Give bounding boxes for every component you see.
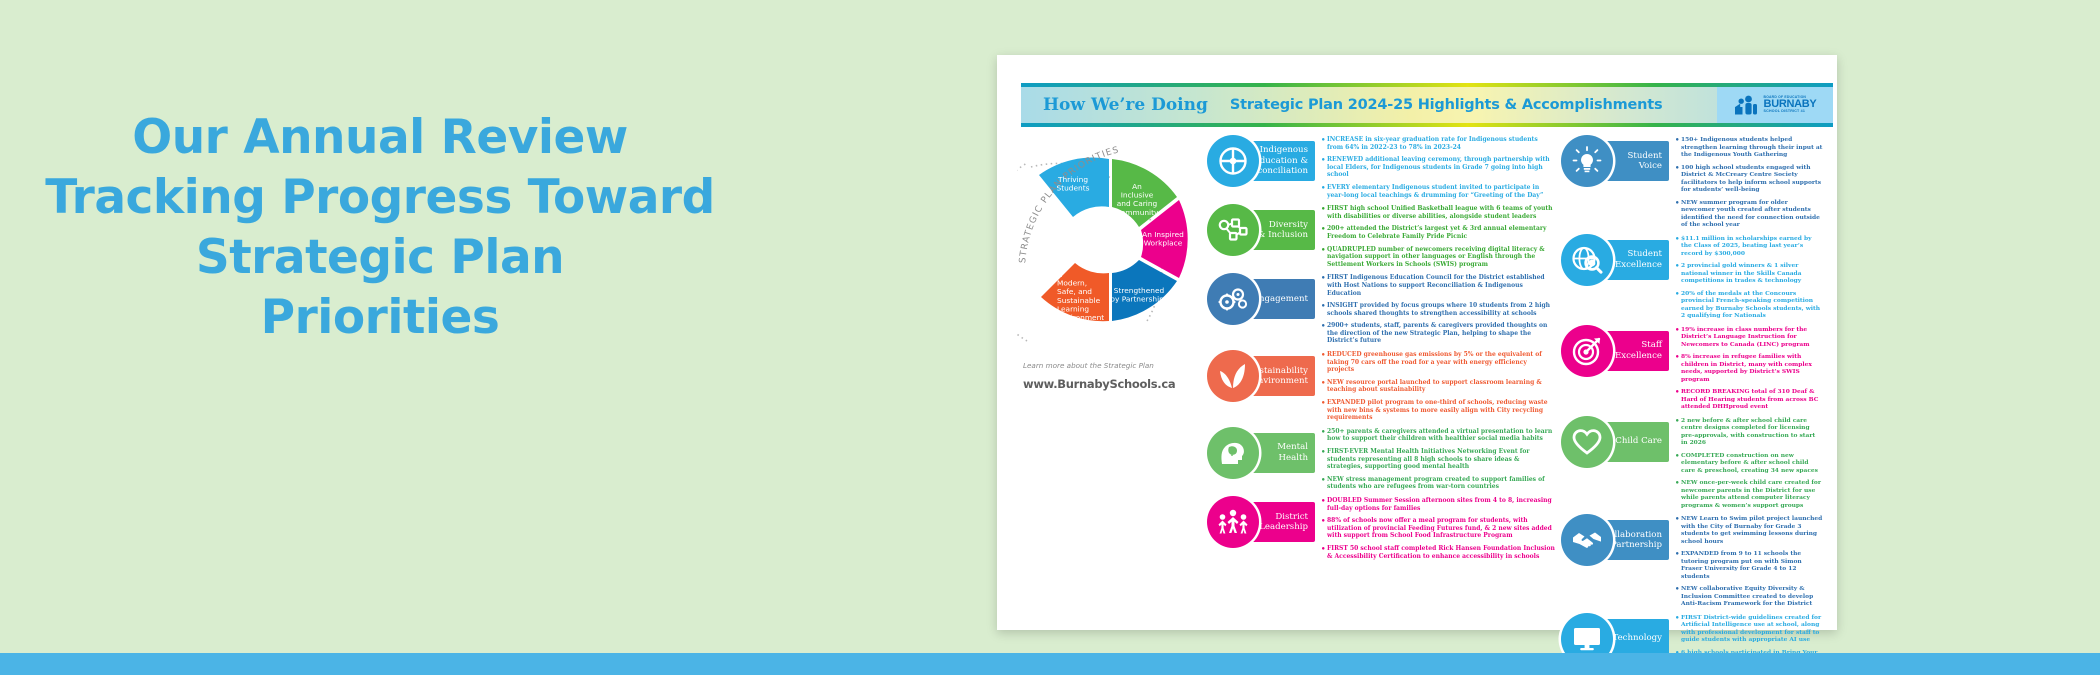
wheel-label-inspired-workplace: An InspiredWorkplace xyxy=(1142,230,1184,248)
bullet-text: EVERY elementary Indigenous student invi… xyxy=(1327,184,1555,199)
priority-pill-wrap: StudentVoice xyxy=(1561,135,1669,187)
banner-title: How We’re Doing xyxy=(1043,95,1208,115)
priority-bullet: •NEW collaborative Equity Diversity & In… xyxy=(1675,585,1823,608)
page-headline: Our Annual Review Tracking Progress Towa… xyxy=(0,108,760,348)
priority-bullet: •INCREASE in six-year graduation rate fo… xyxy=(1321,136,1555,151)
priority-bullet-list: •FIRST high school Unified Basketball le… xyxy=(1315,204,1555,273)
headline-line-3: Strategic Plan xyxy=(0,228,760,288)
wheel-label-thriving-students: ThrivingStudents xyxy=(1057,175,1090,193)
priority-pill-wrap: Collaboration& Partnership xyxy=(1561,514,1669,566)
priority-pill-label: MentalHealth xyxy=(1277,442,1308,463)
priority-bullet: •EXPANDED from 9 to 11 schools the tutor… xyxy=(1675,550,1823,580)
page-root: Our Annual Review Tracking Progress Towa… xyxy=(0,0,2100,675)
priority-bullet: •$11.1 million in scholarships earned by… xyxy=(1675,235,1823,258)
bullet-text: INCREASE in six-year graduation rate for… xyxy=(1327,136,1555,151)
bullet-text: 250+ parents & caregivers attended a vir… xyxy=(1327,428,1555,443)
bullet-text: FIRST 50 school staff completed Rick Han… xyxy=(1327,545,1555,560)
priority-bullet-list: •250+ parents & caregivers attended a vi… xyxy=(1315,427,1555,496)
target-arrow-icon xyxy=(1561,325,1613,377)
district-leadership-people-icon xyxy=(1207,496,1259,548)
handshake-icon xyxy=(1561,514,1613,566)
priority-bullet: •RECORD BREAKING total of 310 Deaf & Har… xyxy=(1675,388,1823,411)
medicine-wheel-icon xyxy=(1207,135,1259,187)
priority-bullet: •FIRST 50 school staff completed Rick Ha… xyxy=(1321,545,1555,560)
bullet-text: FIRST-EVER Mental Health Initiatives Net… xyxy=(1327,448,1555,471)
priority-bullet-list: •NEW Learn to Swim pilot project launche… xyxy=(1669,514,1823,613)
priority-pill-wrap: Sustainability& Environment xyxy=(1207,350,1315,402)
gears-engagement-icon xyxy=(1207,273,1259,325)
wheel-label-strengthened-partnerships: Strengthenedby Partnerships xyxy=(1110,286,1168,304)
poster-card: How We’re Doing Strategic Plan 2024-25 H… xyxy=(997,55,1837,630)
priority-bullet: •20% of the medals at the Concours provi… xyxy=(1675,290,1823,320)
priority-bullet-list: •REDUCED greenhouse gas emissions by 5% … xyxy=(1315,350,1555,427)
priority-bullet: •FIRST-EVER Mental Health Initiatives Ne… xyxy=(1321,448,1555,471)
priority-bullet-list: •150+ Indigenous students helped strengt… xyxy=(1669,135,1823,234)
bullet-text: 2900+ students, staff, parents & caregiv… xyxy=(1327,322,1555,345)
bullet-text: 2 provincial gold winners & 1 silver nat… xyxy=(1681,262,1823,285)
priority-bullet-list: •19% increase in class numbers for the D… xyxy=(1669,325,1823,416)
priority-group: Sustainability& Environment•REDUCED gree… xyxy=(1207,350,1555,427)
priority-bullet: •DOUBLED Summer Session afternoon sites … xyxy=(1321,497,1555,512)
priority-bullet: •FIRST Indigenous Education Council for … xyxy=(1321,274,1555,297)
bullet-text: 200+ attended the District’s largest yet… xyxy=(1327,225,1555,240)
bullet-text: INSIGHT provided by focus groups where 1… xyxy=(1327,302,1555,317)
priority-bullet: •100 high school students engaged with D… xyxy=(1675,164,1823,194)
priority-pill-wrap: Child Care xyxy=(1561,416,1669,468)
priority-pill-wrap: MentalHealth xyxy=(1207,427,1315,479)
priority-bullet: •NEW Learn to Swim pilot project launche… xyxy=(1675,515,1823,545)
headline-line-2: Tracking Progress Toward xyxy=(0,168,760,228)
bullet-text: NEW collaborative Equity Diversity & Inc… xyxy=(1681,585,1823,608)
bullet-text: RENEWED additional leaving ceremony, thr… xyxy=(1327,156,1555,179)
bullet-text: NEW once-per-week child care created for… xyxy=(1681,479,1823,509)
priority-pill-label: StudentExcellence xyxy=(1615,249,1662,270)
bullet-text: EXPANDED pilot program to one-third of s… xyxy=(1327,399,1555,422)
priority-pill-wrap: StaffExcellence xyxy=(1561,325,1669,377)
priority-bullet-list: •DOUBLED Summer Session afternoon sites … xyxy=(1315,496,1555,565)
banner-subtitle: Strategic Plan 2024-25 Highlights & Acco… xyxy=(1230,97,1663,113)
wheel-footer-url[interactable]: www.BurnabySchools.ca xyxy=(1023,377,1175,391)
priority-bullet: •200+ attended the District’s largest ye… xyxy=(1321,225,1555,240)
priority-bullet: •QUADRUPLED number of newcomers receivin… xyxy=(1321,246,1555,269)
priority-bullet: •2900+ students, staff, parents & caregi… xyxy=(1321,322,1555,345)
priority-bullet: •2 provincial gold winners & 1 silver na… xyxy=(1675,262,1823,285)
priority-pill-label: Technology xyxy=(1613,633,1663,643)
priority-pill-label: StaffExcellence xyxy=(1615,340,1662,361)
priority-bullet: •88% of schools now offer a meal program… xyxy=(1321,517,1555,540)
mental-health-head-icon xyxy=(1207,427,1259,479)
priority-group: StudentVoice•150+ Indigenous students he… xyxy=(1561,135,1823,234)
right-column: StudentVoice•150+ Indigenous students he… xyxy=(1555,135,1823,612)
bullet-text: $11.1 million in scholarships earned by … xyxy=(1681,235,1823,258)
priority-bullet: •19% increase in class numbers for the D… xyxy=(1675,326,1823,349)
wheel-footer-note: Learn more about the Strategic Plan xyxy=(1023,361,1154,370)
priority-group: Engagement•FIRST Indigenous Education Co… xyxy=(1207,273,1555,350)
priority-bullet: •NEW stress management program created t… xyxy=(1321,476,1555,491)
priority-pill-wrap: Engagement xyxy=(1207,273,1315,325)
priority-bullet: •REDUCED greenhouse gas emissions by 5% … xyxy=(1321,351,1555,374)
bullet-text: 2 new before & after school child care c… xyxy=(1681,417,1823,447)
poster-inner: How We’re Doing Strategic Plan 2024-25 H… xyxy=(1011,69,1823,616)
priority-pill-label: Diversity& Inclusion xyxy=(1258,220,1308,241)
priority-bullet: •EVERY elementary Indigenous student inv… xyxy=(1321,184,1555,199)
priority-pill-label: StudentVoice xyxy=(1628,151,1662,172)
bullet-text: NEW resource portal launched to support … xyxy=(1327,379,1555,394)
priority-bullet-list: •FIRST Indigenous Education Council for … xyxy=(1315,273,1555,350)
priority-bullet: •NEW summer program for older newcomer y… xyxy=(1675,199,1823,229)
priority-bullet-list: •INCREASE in six-year graduation rate fo… xyxy=(1315,135,1555,204)
lightbulb-idea-icon xyxy=(1561,135,1613,187)
priority-pill-wrap: Diversity& Inclusion xyxy=(1207,204,1315,256)
poster-banner: How We’re Doing Strategic Plan 2024-25 H… xyxy=(1021,83,1833,127)
priority-bullet: •8% increase in refugee families with ch… xyxy=(1675,353,1823,383)
priority-pill-label: Engagement xyxy=(1253,294,1308,304)
priority-group: StudentExcellence•$11.1 million in schol… xyxy=(1561,234,1823,325)
bullet-text: FIRST high school Unified Basketball lea… xyxy=(1327,205,1555,220)
logo-wordmark: BOARD OF EDUCATION BURNABY SCHOOL DISTRI… xyxy=(1764,96,1817,114)
priority-bullet: •150+ Indigenous students helped strengt… xyxy=(1675,136,1823,159)
bullet-text: 150+ Indigenous students helped strength… xyxy=(1681,136,1823,159)
bullet-text: RECORD BREAKING total of 310 Deaf & Hard… xyxy=(1681,388,1823,411)
priority-bullet: •COMPLETED construction on new elementar… xyxy=(1675,452,1823,475)
leaf-sustainability-icon xyxy=(1207,350,1259,402)
bullet-text: 20% of the medals at the Concours provin… xyxy=(1681,290,1823,320)
wheel-diagram-icon: STRATEGIC PLAN PRIORITIES ThrivingStuden… xyxy=(1017,145,1205,355)
bullet-text: NEW Learn to Swim pilot project launched… xyxy=(1681,515,1823,545)
priority-columns: IndigenousEducation &Reconciliation•INCR… xyxy=(1207,135,1823,612)
priority-group: MentalHealth•250+ parents & caregivers a… xyxy=(1207,427,1555,496)
heart-childcare-icon xyxy=(1561,416,1613,468)
bullet-text: 19% increase in class numbers for the Di… xyxy=(1681,326,1823,349)
priority-pill-wrap: DistrictLeadership xyxy=(1207,496,1315,548)
priority-pill-label: DistrictLeadership xyxy=(1259,512,1308,533)
district-logo: BOARD OF EDUCATION BURNABY SCHOOL DISTRI… xyxy=(1717,87,1833,123)
priority-bullet: •EXPANDED pilot program to one-third of … xyxy=(1321,399,1555,422)
globe-magnifier-icon xyxy=(1561,234,1613,286)
bottom-accent-strip xyxy=(0,653,2100,675)
priority-bullet: •NEW once-per-week child care created fo… xyxy=(1675,479,1823,509)
priority-bullet: •FIRST high school Unified Basketball le… xyxy=(1321,205,1555,220)
bullet-text: 100 high school students engaged with Di… xyxy=(1681,164,1823,194)
bullet-text: 8% increase in refugee families with chi… xyxy=(1681,353,1823,383)
bullet-text: DOUBLED Summer Session afternoon sites f… xyxy=(1327,497,1555,512)
priority-pill-wrap: IndigenousEducation &Reconciliation xyxy=(1207,135,1315,187)
priority-group: Collaboration& Partnership•NEW Learn to … xyxy=(1561,514,1823,613)
logo-line-3: SCHOOL DISTRICT 41 xyxy=(1764,110,1817,114)
priority-group: IndigenousEducation &Reconciliation•INCR… xyxy=(1207,135,1555,204)
bullet-text: COMPLETED construction on new elementary… xyxy=(1681,452,1823,475)
bullet-text: REDUCED greenhouse gas emissions by 5% o… xyxy=(1327,351,1555,374)
priority-group: Diversity& Inclusion•FIRST high school U… xyxy=(1207,204,1555,273)
priority-bullet-list: •2 new before & after school child care … xyxy=(1669,416,1823,515)
strategic-plan-wheel: STRATEGIC PLAN PRIORITIES ThrivingStuden… xyxy=(1017,145,1205,565)
bullet-text: FIRST Indigenous Education Council for t… xyxy=(1327,274,1555,297)
diversity-network-icon xyxy=(1207,204,1259,256)
bullet-text: 88% of schools now offer a meal program … xyxy=(1327,517,1555,540)
bullet-text: NEW summer program for older newcomer yo… xyxy=(1681,199,1823,229)
priority-bullet: •250+ parents & caregivers attended a vi… xyxy=(1321,428,1555,443)
priority-bullet: •RENEWED additional leaving ceremony, th… xyxy=(1321,156,1555,179)
priority-bullet: •FIRST District-wide guidelines created … xyxy=(1675,614,1823,644)
priority-pill-wrap: StudentExcellence xyxy=(1561,234,1669,286)
priority-bullet: •NEW resource portal launched to support… xyxy=(1321,379,1555,394)
headline-line-4: Priorities xyxy=(0,288,760,348)
bullet-text: EXPANDED from 9 to 11 schools the tutori… xyxy=(1681,550,1823,580)
bullet-text: QUADRUPLED number of newcomers receiving… xyxy=(1327,246,1555,269)
priority-bullet: •INSIGHT provided by focus groups where … xyxy=(1321,302,1555,317)
burnaby-people-logo-icon xyxy=(1734,95,1760,115)
bullet-text: NEW stress management program created to… xyxy=(1327,476,1555,491)
priority-group: StaffExcellence•19% increase in class nu… xyxy=(1561,325,1823,416)
priority-group: Child Care•2 new before & after school c… xyxy=(1561,416,1823,515)
priority-bullet-list: •$11.1 million in scholarships earned by… xyxy=(1669,234,1823,325)
bullet-text: FIRST District-wide guidelines created f… xyxy=(1681,614,1823,644)
headline-line-1: Our Annual Review xyxy=(0,108,760,168)
priority-group: DistrictLeadership•DOUBLED Summer Sessio… xyxy=(1207,496,1555,565)
priority-pill-label: Child Care xyxy=(1615,436,1662,446)
left-column: IndigenousEducation &Reconciliation•INCR… xyxy=(1207,135,1555,612)
priority-bullet: •2 new before & after school child care … xyxy=(1675,417,1823,447)
